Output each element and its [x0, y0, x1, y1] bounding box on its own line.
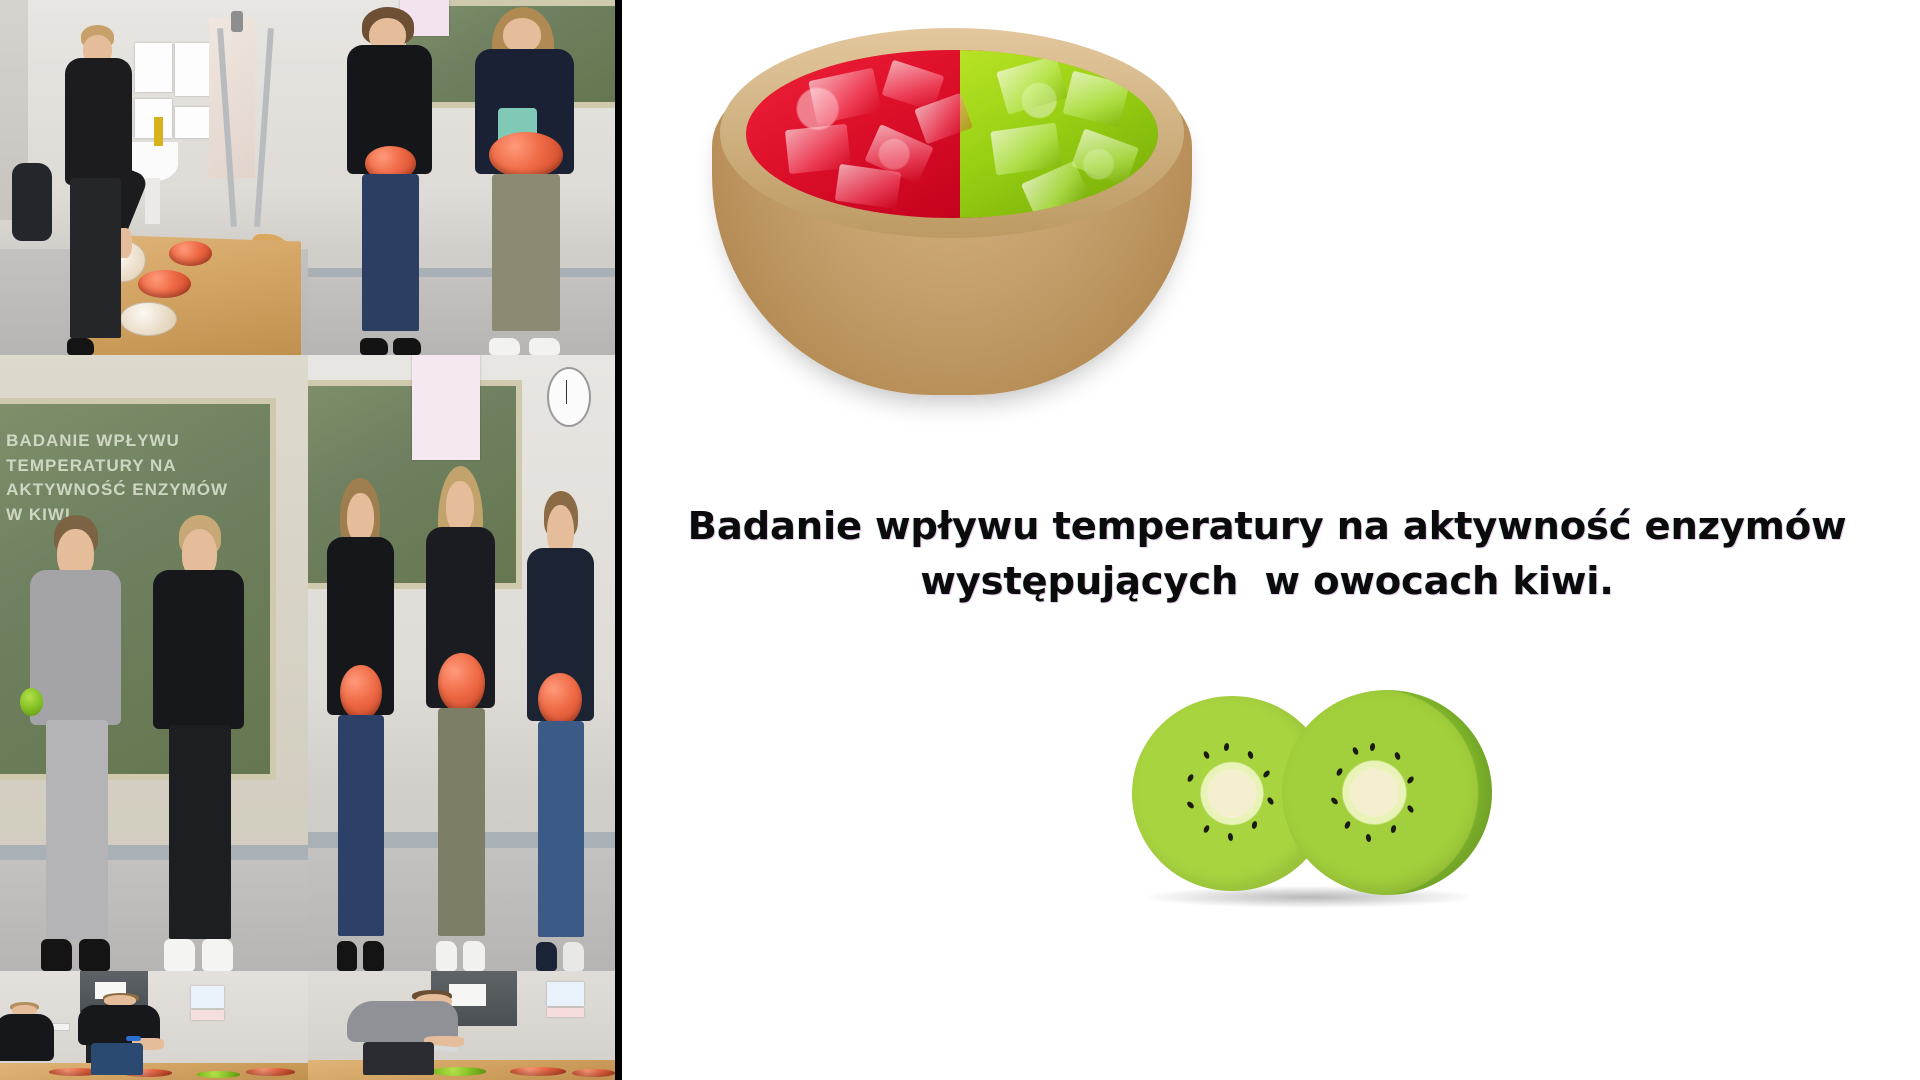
classroom-experiment-photo-grid: BADANIE WPŁYWUTEMPERATURY NAAKTYWNOŚĆ EN… — [0, 0, 622, 1080]
jelly-bowl-image — [712, 10, 1192, 410]
page-title: Badanie wpływu temperatury na aktywność … — [622, 500, 1912, 609]
photo-2-two-girls-with-bowls — [308, 0, 616, 355]
slide-root: BADANIE WPŁYWUTEMPERATURY NAAKTYWNOŚĆ EN… — [0, 0, 1920, 1080]
content-panel: Badanie wpływu temperatury na aktywność … — [622, 0, 1920, 1080]
kiwi-fruit-image — [1132, 690, 1492, 900]
photo-3-boys-at-chalkboard: BADANIE WPŁYWUTEMPERATURY NAAKTYWNOŚĆ EN… — [0, 355, 308, 971]
photo-1-boy-pouring-jelly — [0, 0, 308, 355]
photo-4-three-students-with-bowls — [308, 355, 616, 971]
photo-5-preparing-samples — [0, 971, 308, 1080]
photo-6-boy-cutting-kiwi — [308, 971, 616, 1080]
